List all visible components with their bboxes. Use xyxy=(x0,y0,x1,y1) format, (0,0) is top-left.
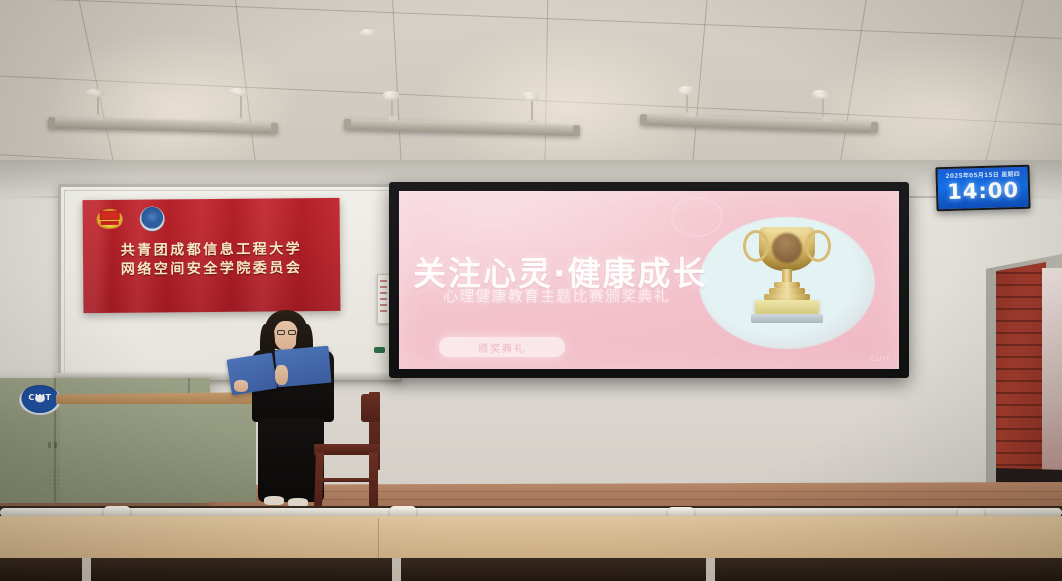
ceiling-sensor-icon xyxy=(360,29,376,36)
cuit-logo-text: CUIT xyxy=(19,393,61,402)
university-emblem-icon xyxy=(140,206,165,231)
classroom-scene: 共青团成都信息工程大学 网络空间安全学院委员会 xyxy=(0,0,1062,581)
desk-leg xyxy=(82,558,91,581)
wooden-chair xyxy=(311,392,399,510)
desk-row-front-underside xyxy=(0,558,1062,581)
slide-watermark xyxy=(671,197,723,237)
youth-league-emblem-icon xyxy=(97,209,123,229)
door-threshold-shadow xyxy=(996,468,1062,484)
lectern-body xyxy=(60,398,256,502)
slide-corner-label: CUIT xyxy=(871,355,891,363)
desk-leg xyxy=(706,558,715,581)
desk-leg xyxy=(392,558,401,581)
person-hand-right xyxy=(275,365,288,385)
cuit-logo-icon: CUIT xyxy=(19,385,61,415)
person-hand-left xyxy=(234,380,248,392)
slide-pill-label: 颁奖典礼 xyxy=(439,337,565,357)
projection-screen[interactable]: 关注心灵·健康成长 心理健康教育主题比赛颁奖典礼 颁奖典礼 CUIT xyxy=(389,182,909,378)
whiteboard-magnet xyxy=(374,347,385,353)
chair-backrest-top xyxy=(361,394,380,422)
person-shoe xyxy=(264,496,284,505)
slide-surface: 关注心灵·健康成长 心理健康教育主题比赛颁奖典礼 颁奖典礼 CUIT xyxy=(399,191,899,369)
eyeglasses-icon xyxy=(288,330,296,335)
slide-subtitle: 心理健康教育主题比赛颁奖典礼 xyxy=(443,285,670,306)
event-banner: 共青团成都信息工程大学 网络空间安全学院委员会 xyxy=(83,198,341,313)
banner-line-1: 共青团成都信息工程大学 xyxy=(83,241,340,260)
banner-line-2: 网络空间安全学院委员会 xyxy=(83,260,340,279)
desk-joint-seam xyxy=(378,518,379,560)
eyeglasses-icon xyxy=(277,330,285,335)
trophy-graphic xyxy=(747,227,827,339)
person-face xyxy=(274,321,298,351)
door-panel[interactable] xyxy=(996,262,1046,490)
desk-row-front xyxy=(0,516,1062,560)
chair-stretcher xyxy=(318,478,376,482)
clock-time: 14:00 xyxy=(938,178,1029,205)
doorway-opening xyxy=(1042,268,1062,484)
digital-clock-display: 2025年05月15日 星期四 14:00 xyxy=(935,165,1030,212)
